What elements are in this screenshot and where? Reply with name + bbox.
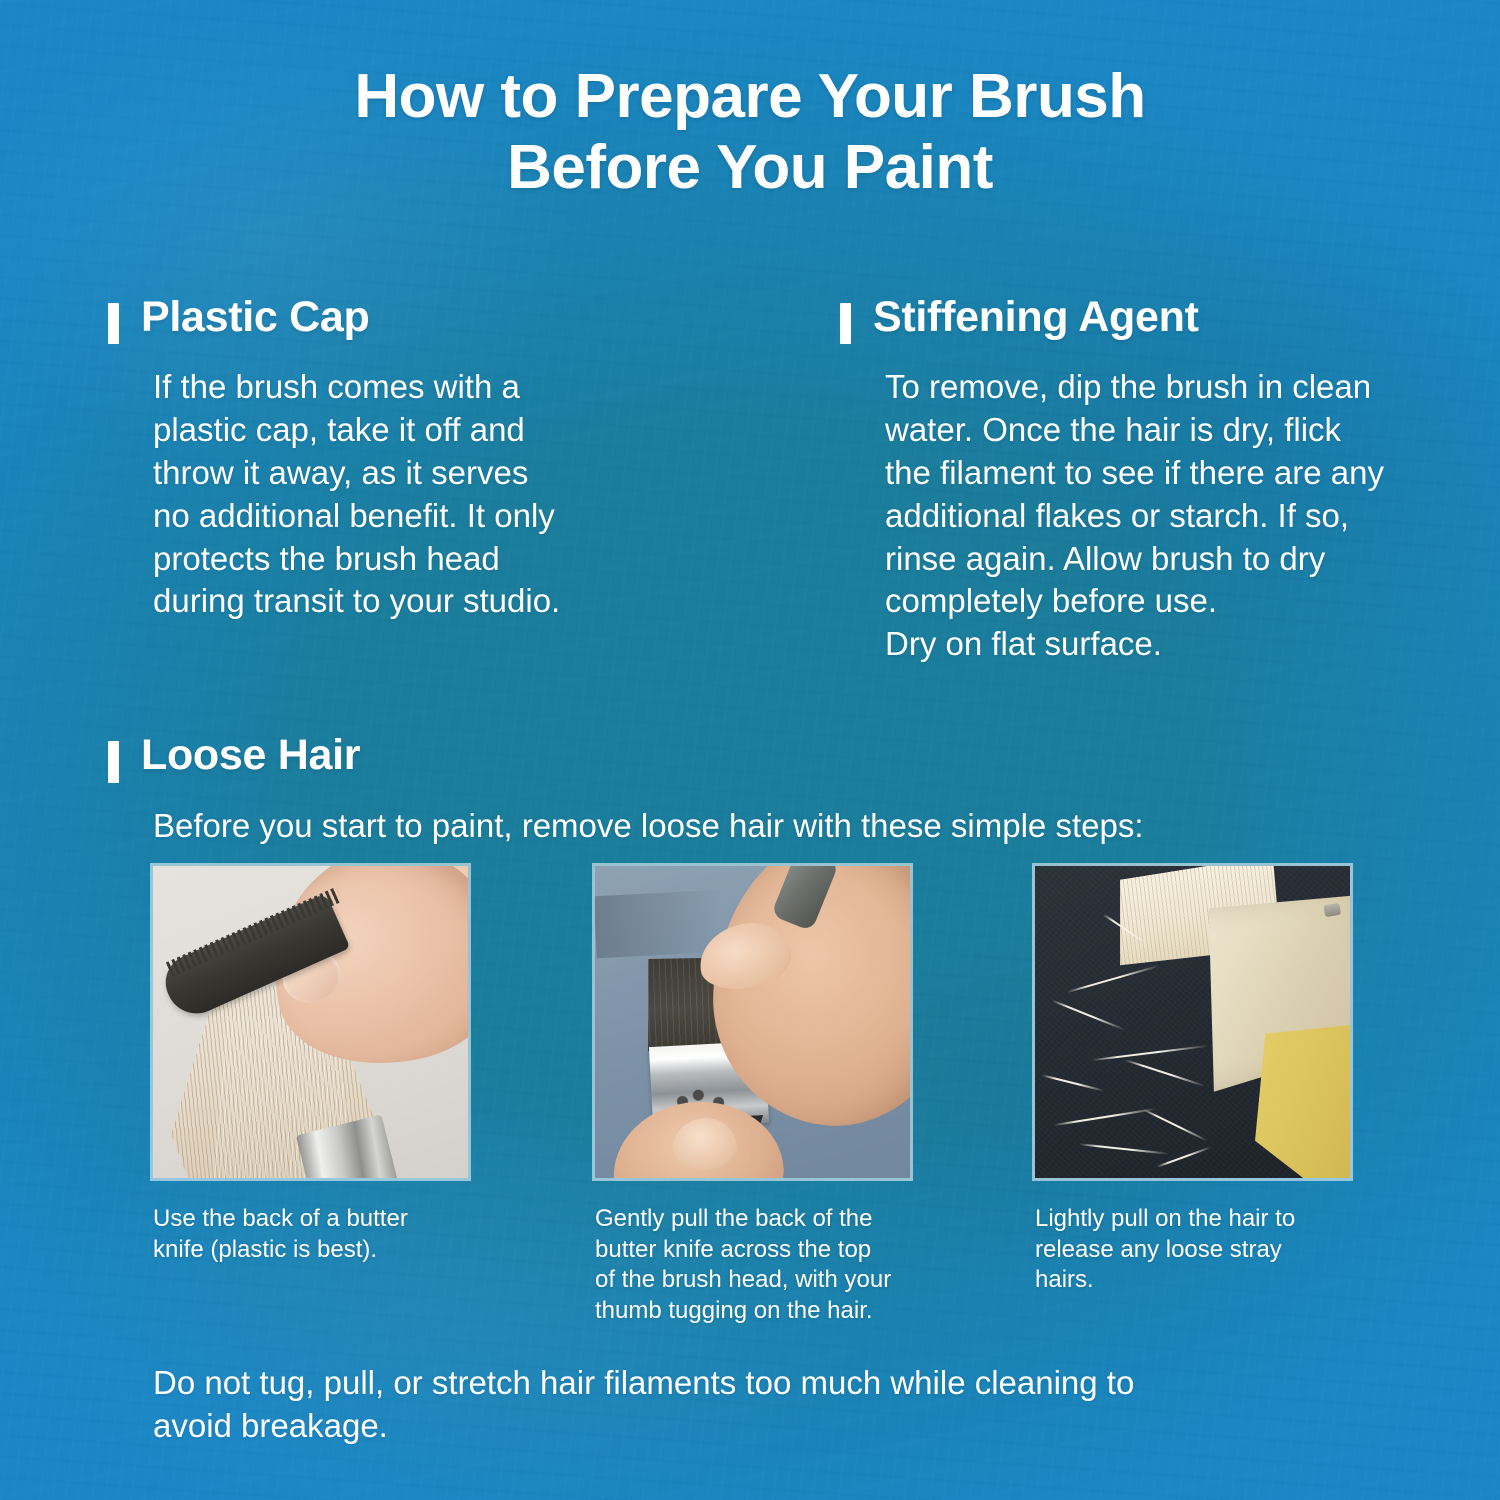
infographic-poster: How to Prepare Your Brush Before You Pai… [0,0,1500,1500]
section-loose-hair-intro: Before you start to paint, remove loose … [153,805,1500,848]
footnote-warning: Do not tug, pull, or stretch hair filame… [153,1362,1134,1448]
accent-bar-icon [840,303,851,344]
section-plastic-cap-body: If the brush comes with a plastic cap, t… [153,366,728,623]
body-line: additional flakes or starch. If so, [885,495,1480,538]
caption-line: release any loose stray [1035,1235,1350,1266]
step-photo-row [153,866,1353,1178]
body-line: Dry on flat surface. [885,623,1480,666]
accent-bar-icon [108,303,119,344]
step-caption-row: Use the back of a butter knife (plastic … [153,1204,1353,1327]
step-2-photo-cell [595,866,910,1178]
body-line: the filament to see if there are any [885,452,1480,495]
lower-thumb-shape [673,1118,737,1170]
page-title-line-2: Before You Paint [0,133,1500,204]
footnote-line: avoid breakage. [153,1405,1134,1448]
caption-line: butter knife across the top [595,1235,910,1266]
body-line: completely before use. [885,580,1480,623]
body-line: rinse again. Allow brush to dry [885,538,1480,581]
caption-line: knife (plastic is best). [153,1235,468,1266]
body-line: during transit to your studio. [153,580,728,623]
accent-bar-icon [108,741,119,783]
section-plastic-cap-heading: Plastic Cap [141,296,370,339]
caption-line: Use the back of a butter [153,1204,468,1235]
caption-line: hairs. [1035,1265,1350,1296]
section-stiffening-agent-body: To remove, dip the brush in clean water.… [885,366,1480,666]
photo-loose-stray-hairs-on-dark-surface [1035,866,1350,1178]
section-stiffening-agent-header: Stiffening Agent [840,296,1480,344]
body-line: no additional benefit. It only [153,495,728,538]
caption-line: Gently pull the back of the [595,1204,910,1235]
section-plastic-cap-header: Plastic Cap [108,296,728,344]
loose-stray-hairs-group [1035,866,1350,1178]
section-stiffening-agent-heading: Stiffening Agent [873,296,1199,339]
step-3-caption: Lightly pull on the hair to release any … [1035,1204,1350,1327]
page-title: How to Prepare Your Brush Before You Pai… [0,0,1500,203]
body-line: If the brush comes with a [153,366,728,409]
section-loose-hair-header: Loose Hair [108,734,1500,783]
step-3-photo-cell [1035,866,1350,1178]
caption-line: Lightly pull on the hair to [1035,1204,1350,1235]
footnote-line: Do not tug, pull, or stretch hair filame… [153,1362,1134,1405]
section-stiffening-agent: Stiffening Agent To remove, dip the brus… [840,296,1480,666]
body-line: protects the brush head [153,538,728,581]
body-line: plastic cap, take it off and [153,409,728,452]
body-line: To remove, dip the brush in clean [885,366,1480,409]
step-1-caption: Use the back of a butter knife (plastic … [153,1204,468,1327]
caption-line: of the brush head, with your [595,1265,910,1296]
step-2-caption: Gently pull the back of the butter knife… [595,1204,910,1327]
section-plastic-cap: Plastic Cap If the brush comes with a pl… [108,296,728,666]
photo-knife-on-cream-fan-brush [153,866,468,1178]
caption-line: thumb tugging on the hair. [595,1296,910,1327]
section-loose-hair: Loose Hair Before you start to paint, re… [108,734,1500,848]
photo-pulling-knife-across-brush-head [595,866,910,1178]
step-1-photo-cell [153,866,468,1178]
body-line: water. Once the hair is dry, flick [885,409,1480,452]
section-loose-hair-heading: Loose Hair [141,734,360,777]
body-line: throw it away, as it serves [153,452,728,495]
page-title-line-1: How to Prepare Your Brush [0,62,1500,133]
two-column-section: Plastic Cap If the brush comes with a pl… [0,296,1500,666]
